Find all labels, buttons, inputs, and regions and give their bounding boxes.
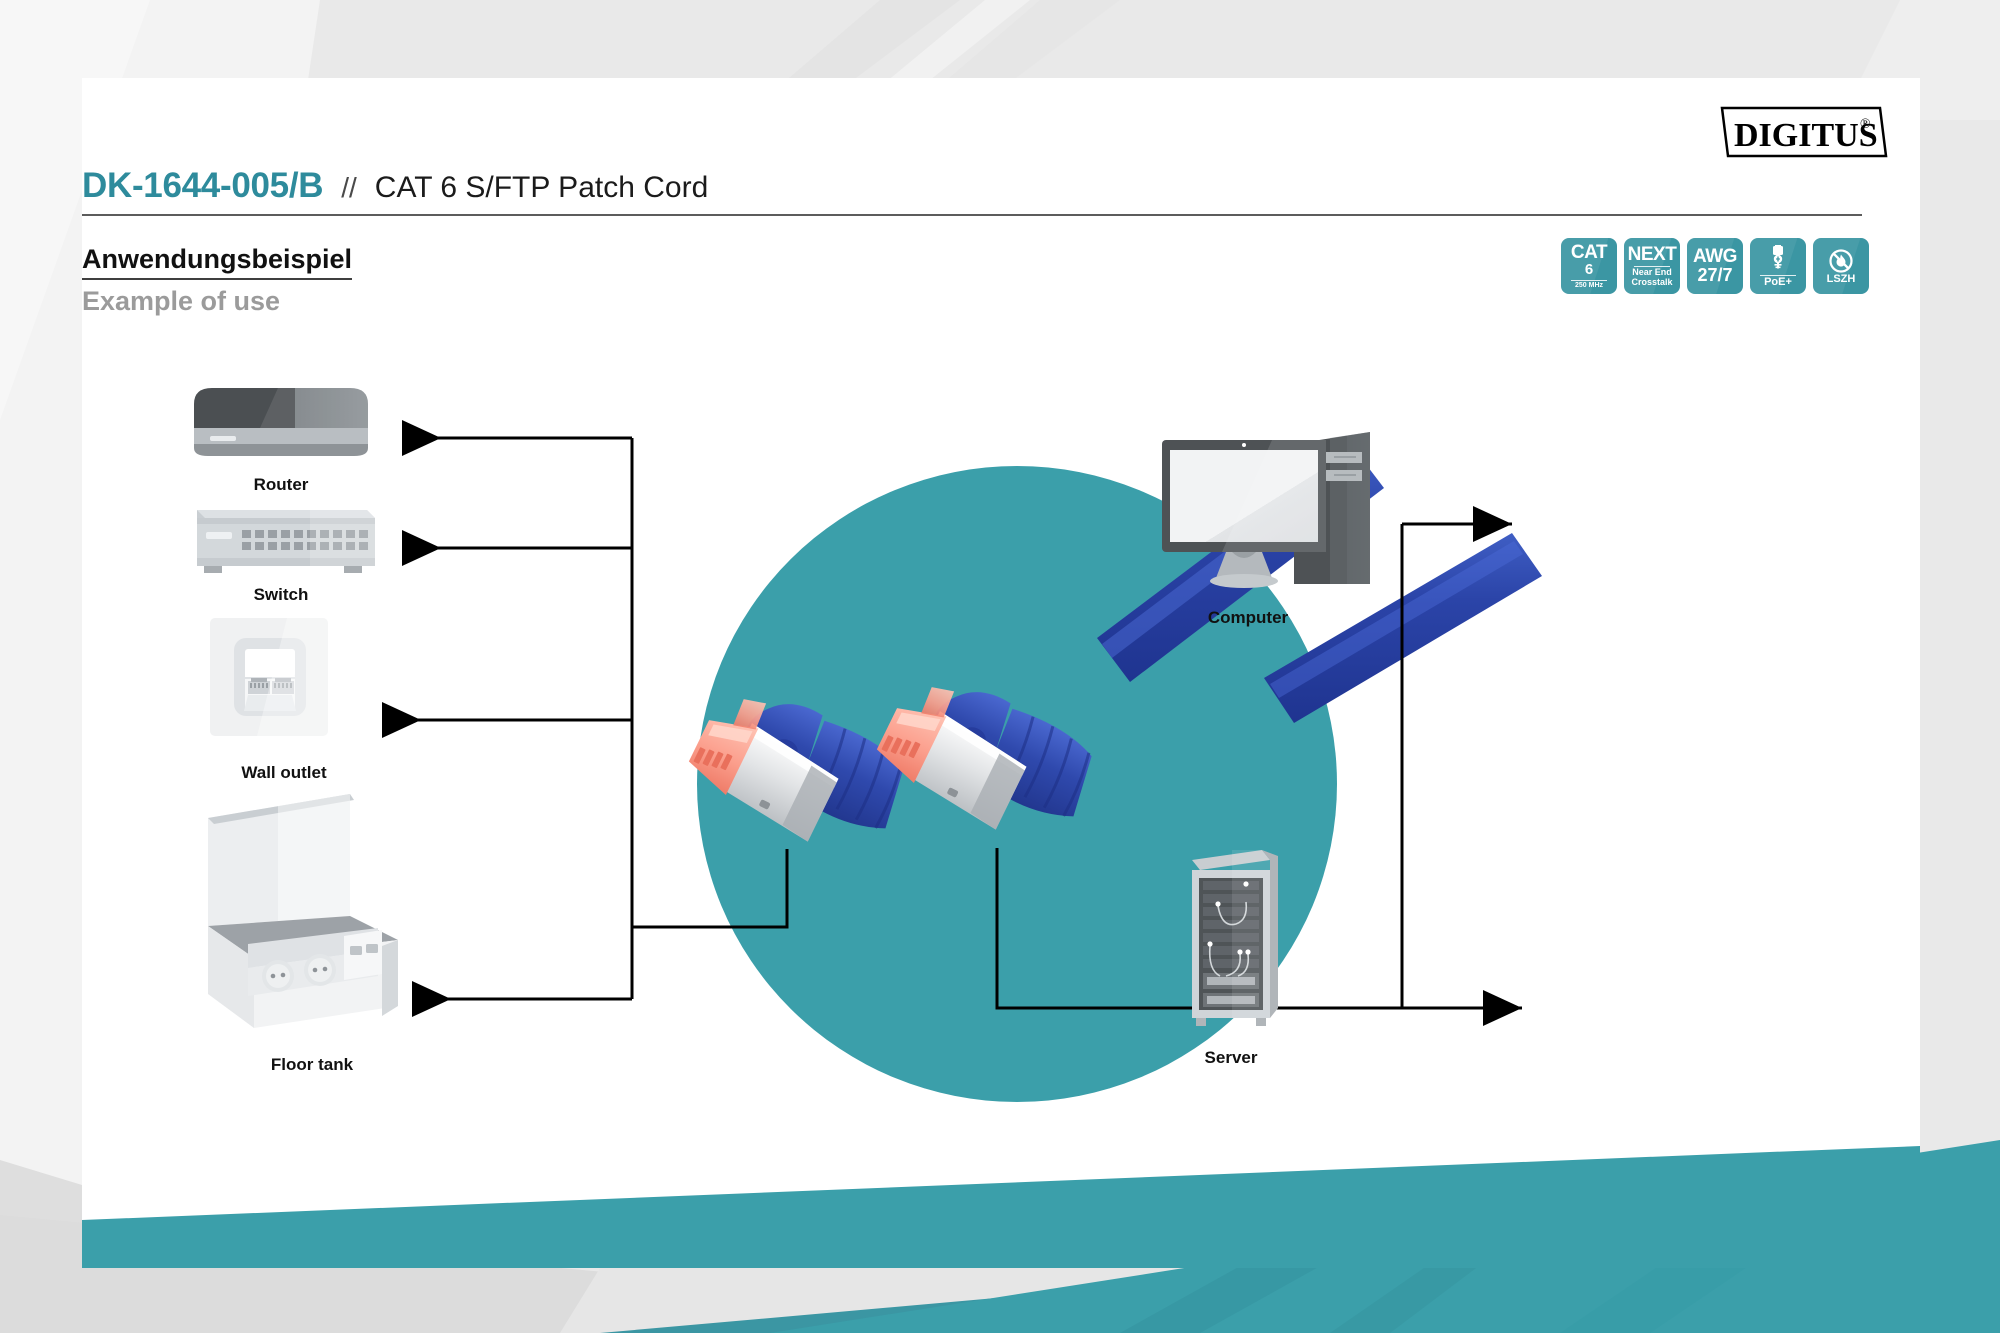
content-card: DIGITUS ® DK-1644-005/B // CAT 6 S/FTP P… (82, 78, 1920, 1268)
device-floor-tank: Floor tank (208, 794, 398, 1074)
device-switch: Switch (197, 510, 375, 604)
usage-diagram: Router (82, 78, 1920, 1268)
computer-label: Computer (1208, 608, 1289, 627)
wall-outlet-label: Wall outlet (241, 763, 327, 782)
server-label: Server (1205, 1048, 1258, 1067)
floor-tank-label: Floor tank (271, 1055, 354, 1074)
device-router: Router (194, 388, 368, 494)
router-label: Router (254, 475, 309, 494)
device-wall-outlet: Wall outlet (210, 618, 328, 782)
switch-label: Switch (254, 585, 309, 604)
